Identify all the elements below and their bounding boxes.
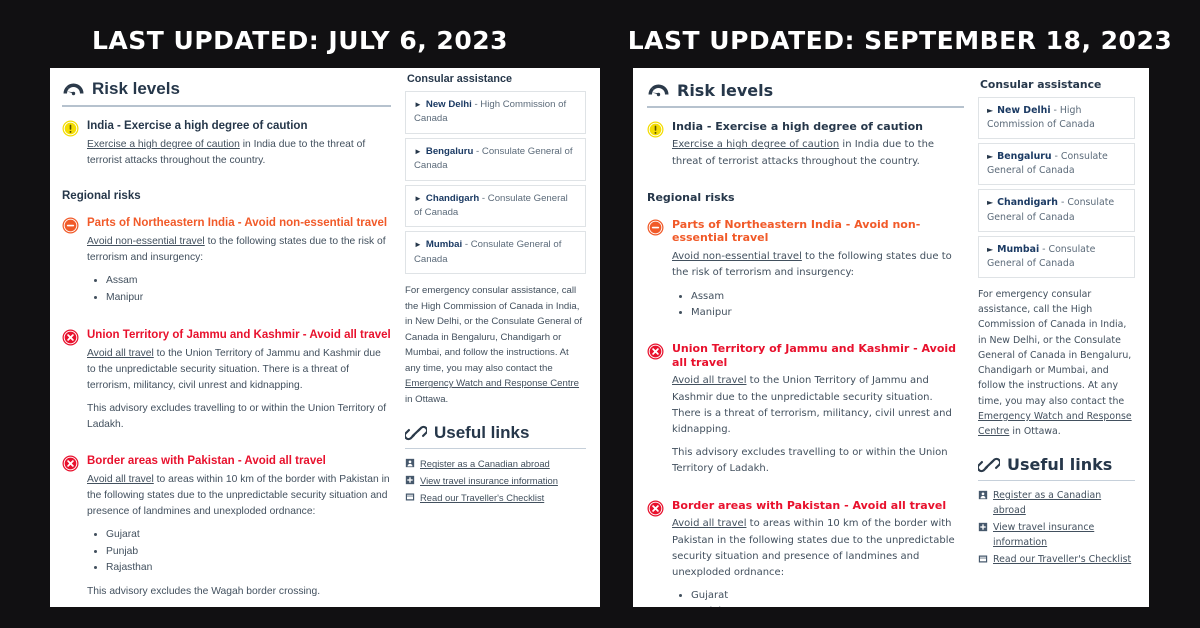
advisory-body: Parts of Northeastern India - Avoid non-… [87,216,391,314]
right-screenshot-panel: Risk levelsIndia - Exercise a high degre… [633,68,1149,607]
useful-link[interactable]: Register as a Canadian abroad [993,488,1135,518]
chevron-right-icon: ► [414,100,422,109]
chevron-right-icon: ► [414,240,422,249]
office-city: Bengaluru [997,151,1051,162]
advisory-item: Union Territory of Jammu and Kashmir - A… [62,328,391,440]
advisory-title: India - Exercise a high degree of cautio… [87,119,391,133]
advisory-level-link[interactable]: Avoid non-essential travel [672,251,802,262]
comparison-stage: LAST UPDATED: JULY 6, 2023 LAST UPDATED:… [0,0,1200,628]
chevron-right-icon: ► [987,198,993,207]
chevron-right-icon: ► [414,194,422,203]
list-item: Assam [106,273,391,290]
emergency-assistance-text: For emergency consular assistance, call … [405,283,586,407]
list-item: Gujarat [691,588,964,604]
list-item: Read our Traveller's Checklist [405,490,586,505]
section-divider [62,105,391,107]
advisory-item: Border areas with Pakistan - Avoid all t… [62,454,391,607]
main-column: Risk levelsIndia - Exercise a high degre… [633,68,978,607]
consular-office-accordion[interactable]: ►New Delhi - High Commission of Canada [405,91,586,134]
useful-links-heading: Useful links [978,455,1135,475]
office-city: Mumbai [426,239,462,250]
medical-plus-icon [978,522,988,532]
list-item: Punjab [106,544,391,561]
office-city: New Delhi [426,99,472,110]
regional-risks-title: Regional risks [62,190,391,202]
advisory-title: India - Exercise a high degree of cautio… [672,120,964,134]
emergency-text-after: in Ottawa. [1009,426,1060,437]
minus-circle-icon [62,217,79,234]
advisory-paragraph: Avoid all travel to areas within 10 km o… [87,472,391,520]
chevron-right-icon: ► [987,106,993,115]
advisory-paragraph: Avoid all travel to areas within 10 km o… [672,516,964,581]
advisory-item: Parts of Northeastern India - Avoid non-… [62,216,391,314]
list-item: Gujarat [106,527,391,544]
consular-assistance-title: Consular assistance [407,73,586,85]
advisory-title: Border areas with Pakistan - Avoid all t… [672,499,964,513]
list-item: Punjab [691,604,964,607]
useful-link[interactable]: Register as a Canadian abroad [420,456,550,471]
advisory-level-link[interactable]: Exercise a high degree of caution [87,139,240,150]
risk-levels-heading: Risk levels [62,80,391,99]
advisory-level-link[interactable]: Avoid all travel [87,474,154,485]
advisory-level-link[interactable]: Avoid all travel [672,375,746,386]
advisory-paragraph: Avoid non-essential travel to the follow… [87,234,391,266]
main-column: Risk levelsIndia - Exercise a high degre… [50,68,405,607]
emergency-assistance-text: For emergency consular assistance, call … [978,287,1135,439]
document-icon [978,554,988,564]
side-column: Consular assistance►New Delhi - High Com… [978,68,1149,607]
list-item: Manipur [106,290,391,307]
advisory-note: This advisory excludes the Wagah border … [87,584,391,600]
exclamation-circle-icon [647,121,664,138]
section-divider [978,480,1135,481]
advisory-item: Union Territory of Jammu and Kashmir - A… [647,342,964,485]
advisory-item: India - Exercise a high degree of cautio… [62,119,391,176]
exclamation-circle-icon [62,120,79,137]
consular-office-accordion[interactable]: ►Mumbai - Consulate General of Canada [405,231,586,274]
consular-office-accordion[interactable]: ►New Delhi - High Commission of Canada [978,97,1135,139]
advisory-note: This advisory excludes travelling to or … [87,401,391,433]
x-circle-icon [647,343,664,360]
advisory-bullet-list: AssamManipur [87,273,391,306]
advisory-title: Parts of Northeastern India - Avoid non-… [87,216,391,230]
advisory-paragraph: Exercise a high degree of caution in Ind… [672,137,964,169]
x-circle-icon [62,329,79,346]
x-circle-icon [647,500,664,517]
minus-circle-icon [647,219,664,236]
office-city: Mumbai [997,244,1039,255]
section-divider [405,448,586,449]
left-screenshot-panel: Risk levelsIndia - Exercise a high degre… [50,68,600,607]
useful-links-title: Useful links [1007,456,1112,474]
emergency-text-before: For emergency consular assistance, call … [405,285,582,374]
consular-office-accordion[interactable]: ►Mumbai - Consulate General of Canada [978,236,1135,278]
emergency-watch-link[interactable]: Emergency Watch and Response Centre [405,378,579,389]
advisory-level-link[interactable]: Avoid all travel [87,348,154,359]
advisory-item: Border areas with Pakistan - Avoid all t… [647,499,964,607]
office-city: Chandigarh [426,193,479,204]
useful-link[interactable]: View travel insurance information [420,473,558,488]
list-item: Rajasthan [106,560,391,577]
advisory-item: Parts of Northeastern India - Avoid non-… [647,218,964,328]
id-card-icon [978,490,988,500]
advisory-paragraph: Avoid all travel to the Union Territory … [87,346,391,394]
useful-links-title: Useful links [434,424,529,443]
advisory-title: Union Territory of Jammu and Kashmir - A… [672,342,964,370]
consular-assistance-title: Consular assistance [980,78,1135,91]
consular-office-accordion[interactable]: ►Bengaluru - Consulate General of Canada [978,143,1135,185]
advisory-body: India - Exercise a high degree of cautio… [87,119,391,176]
advisory-note: This advisory excludes travelling to or … [672,445,964,477]
advisory-body: Border areas with Pakistan - Avoid all t… [87,454,391,607]
list-item: Read our Traveller's Checklist [978,552,1135,567]
chain-link-icon [405,423,427,443]
regional-risks-title: Regional risks [647,191,964,204]
consular-office-accordion[interactable]: ►Chandigarh - Consulate General of Canad… [978,189,1135,231]
advisory-bullet-list: GujaratPunjabRajasthan [87,527,391,577]
section-divider [647,106,964,108]
advisory-paragraph: Avoid all travel to the Union Territory … [672,373,964,438]
useful-link[interactable]: View travel insurance information [993,520,1135,550]
advisory-body: Union Territory of Jammu and Kashmir - A… [672,342,964,485]
consular-office-accordion[interactable]: ►Chandigarh - Consulate General of Canad… [405,185,586,228]
list-item: Manipur [691,305,964,321]
advisory-item: India - Exercise a high degree of cautio… [647,120,964,177]
right-header-last-updated: LAST UPDATED: SEPTEMBER 18, 2023 [600,26,1200,55]
consular-office-accordion[interactable]: ►Bengaluru - Consulate General of Canada [405,138,586,181]
advisory-paragraph: Exercise a high degree of caution in Ind… [87,137,391,169]
advisory-level-link[interactable]: Avoid non-essential travel [87,236,205,247]
advisory-bullet-list: GujaratPunjabRajasthan [672,588,964,607]
advisory-body: Parts of Northeastern India - Avoid non-… [672,218,964,328]
advisory-level-link[interactable]: Exercise a high degree of caution [672,139,839,150]
list-item: Register as a Canadian abroad [405,456,586,471]
list-item: View travel insurance information [405,473,586,488]
advisory-paragraph: Avoid non-essential travel to the follow… [672,249,964,281]
emergency-text-after: in Ottawa. [405,394,448,405]
chain-link-icon [978,455,1000,475]
useful-link[interactable]: Read our Traveller's Checklist [993,552,1131,567]
chevron-right-icon: ► [414,147,422,156]
list-item: Register as a Canadian abroad [978,488,1135,518]
advisory-body: Union Territory of Jammu and Kashmir - A… [87,328,391,440]
useful-link[interactable]: Read our Traveller's Checklist [420,490,544,505]
side-column: Consular assistance►New Delhi - High Com… [405,68,600,607]
useful-links-heading: Useful links [405,423,586,443]
advisory-bullet-list: AssamManipur [672,289,964,321]
useful-links-list: Register as a Canadian abroadView travel… [405,456,586,505]
advisory-level-link[interactable]: Avoid all travel [672,518,746,529]
id-card-icon [405,458,415,468]
medical-plus-icon [405,475,415,485]
advisory-title: Border areas with Pakistan - Avoid all t… [87,454,391,468]
advisory-body: Border areas with Pakistan - Avoid all t… [672,499,964,607]
risk-levels-title: Risk levels [677,82,773,100]
office-city: Chandigarh [997,197,1058,208]
chevron-right-icon: ► [987,245,993,254]
list-item: Assam [691,289,964,305]
advisory-title: Union Territory of Jammu and Kashmir - A… [87,328,391,342]
risk-levels-title: Risk levels [92,80,180,99]
advisory-title: Parts of Northeastern India - Avoid non-… [672,218,964,246]
document-icon [405,492,415,502]
office-city: Bengaluru [426,146,473,157]
gauge-icon [647,82,670,99]
gauge-icon [62,81,85,98]
office-city: New Delhi [997,105,1050,116]
risk-levels-heading: Risk levels [647,82,964,100]
chevron-right-icon: ► [987,152,993,161]
x-circle-icon [62,455,79,472]
list-item: View travel insurance information [978,520,1135,550]
useful-links-list: Register as a Canadian abroadView travel… [978,488,1135,567]
left-header-last-updated: LAST UPDATED: JULY 6, 2023 [0,26,600,55]
emergency-text-before: For emergency consular assistance, call … [978,289,1131,407]
advisory-body: India - Exercise a high degree of cautio… [672,120,964,177]
